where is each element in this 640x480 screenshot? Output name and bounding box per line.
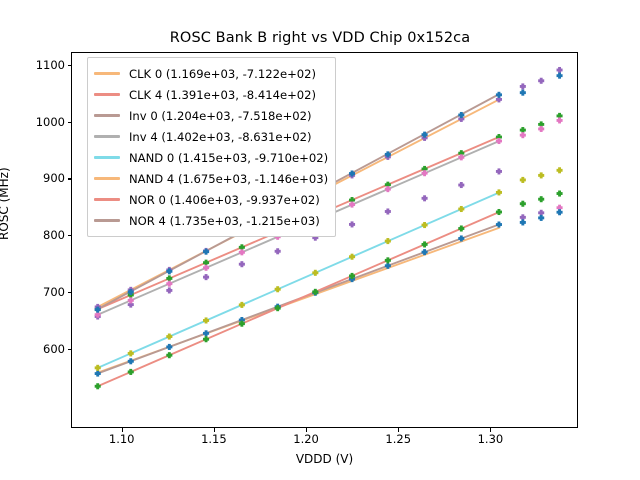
data-point-outlier (538, 126, 544, 132)
data-point (128, 350, 134, 356)
x-tick-label: 1.30 (460, 432, 520, 446)
y-tick-label: 900 (5, 171, 65, 185)
x-tick-mark (306, 428, 307, 432)
legend-item-label: NAND 0 (1.415e+03, -9.710e+02) (129, 151, 328, 165)
legend-item-inv-0[interactable]: Inv 0 (1.204e+03, -7.518e+02) (94, 105, 328, 126)
data-point-outlier (520, 201, 526, 207)
legend-color-swatch (94, 72, 120, 74)
y-tick-label: 1000 (5, 115, 65, 129)
data-point-outlier (538, 78, 544, 84)
y-tick-label: 800 (5, 228, 65, 242)
data-point-outlier (520, 90, 526, 96)
data-point (458, 154, 464, 160)
data-point-outlier (520, 219, 526, 225)
legend-item-label: CLK 4 (1.391e+03, -8.414e+02) (129, 88, 316, 102)
legend-item-label: Inv 0 (1.204e+03, -7.518e+02) (129, 109, 312, 123)
page-title: ROSC Bank B right vs VDD Chip 0x152ca (0, 30, 640, 46)
data-point (422, 195, 428, 201)
data-point (166, 352, 172, 358)
data-point-outlier (520, 177, 526, 183)
legend-item-nor-0[interactable]: NOR 0 (1.406e+03, -9.937e+02) (94, 189, 328, 210)
x-tick-label: 1.25 (368, 432, 428, 446)
data-point (203, 274, 209, 280)
fit-line (98, 212, 499, 386)
x-tick-label: 1.10 (92, 432, 152, 446)
legend-item-label: NOR 4 (1.735e+03, -1.215e+03) (129, 214, 320, 228)
data-point (496, 92, 502, 98)
data-point-outlier (538, 172, 544, 178)
data-point (496, 168, 502, 174)
legend-item-nand-4[interactable]: NAND 4 (1.675e+03, -1.146e+03) (94, 168, 328, 189)
data-point (385, 257, 391, 263)
data-point (239, 261, 245, 267)
data-point-outlier (538, 215, 544, 221)
data-point (203, 336, 209, 342)
data-point (128, 297, 134, 303)
data-point (166, 281, 172, 287)
x-tick-label: 1.15 (184, 432, 244, 446)
y-tick-label: 1100 (5, 58, 65, 72)
data-point (312, 270, 318, 276)
data-point (239, 249, 245, 255)
data-point (239, 302, 245, 308)
data-point-outlier (557, 191, 563, 197)
x-tick-mark (490, 428, 491, 432)
data-point (422, 170, 428, 176)
data-point (203, 265, 209, 271)
x-tick-mark (122, 428, 123, 432)
legend-item-label: NOR 0 (1.406e+03, -9.937e+02) (129, 193, 320, 207)
data-point-outlier (520, 132, 526, 138)
legend-item-nand-0[interactable]: NAND 0 (1.415e+03, -9.710e+02) (94, 147, 328, 168)
data-point (458, 182, 464, 188)
data-point-outlier (538, 196, 544, 202)
matplotlib-figure: ROSC Bank B right vs VDD Chip 0x152ca RO… (0, 0, 640, 480)
data-point-outlier (557, 209, 563, 215)
data-point-outlier (557, 73, 563, 79)
y-tick-label: 700 (5, 285, 65, 299)
x-axis-label: VDDD (V) (71, 452, 578, 466)
x-tick-mark (214, 428, 215, 432)
x-tick-label: 1.20 (276, 432, 336, 446)
data-point-outlier (520, 83, 526, 89)
data-point (275, 248, 281, 254)
data-point (203, 330, 209, 336)
data-point (385, 208, 391, 214)
data-point-outlier (557, 117, 563, 123)
legend-color-swatch (94, 93, 120, 95)
legend-color-swatch (94, 219, 120, 221)
data-point (95, 365, 101, 371)
legend-item-nor-4[interactable]: NOR 4 (1.735e+03, -1.215e+03) (94, 210, 328, 231)
x-tick-mark (398, 428, 399, 432)
data-point (349, 221, 355, 227)
legend-color-swatch (94, 156, 120, 158)
legend: CLK 0 (1.169e+03, -7.122e+02)CLK 4 (1.39… (87, 57, 336, 237)
legend-item-label: Inv 4 (1.402e+03, -8.631e+02) (129, 130, 312, 144)
data-point (422, 241, 428, 247)
legend-item-clk-0[interactable]: CLK 0 (1.169e+03, -7.122e+02) (94, 63, 328, 84)
data-point (166, 287, 172, 293)
legend-item-clk-4[interactable]: CLK 4 (1.391e+03, -8.414e+02) (94, 84, 328, 105)
data-point (275, 286, 281, 292)
data-point (349, 202, 355, 208)
legend-item-label: CLK 0 (1.169e+03, -7.122e+02) (129, 67, 316, 81)
legend-item-label: NAND 4 (1.675e+03, -1.146e+03) (129, 172, 328, 186)
data-point (349, 254, 355, 260)
data-point (166, 275, 172, 281)
data-point (422, 222, 428, 228)
data-point (385, 186, 391, 192)
data-point (496, 209, 502, 215)
legend-color-swatch (94, 177, 120, 179)
y-tick-label: 600 (5, 342, 65, 356)
data-point (166, 344, 172, 350)
legend-item-inv-4[interactable]: Inv 4 (1.402e+03, -8.631e+02) (94, 126, 328, 147)
data-point (496, 221, 502, 227)
data-point (128, 369, 134, 375)
data-point (95, 383, 101, 389)
legend-color-swatch (94, 198, 120, 200)
data-point (458, 206, 464, 212)
data-point (203, 317, 209, 323)
data-point (166, 334, 172, 340)
legend-color-swatch (94, 135, 120, 137)
data-point-outlier (557, 67, 563, 73)
data-point-outlier (557, 167, 563, 173)
data-point (385, 238, 391, 244)
data-point (458, 225, 464, 231)
legend-color-swatch (94, 114, 120, 116)
